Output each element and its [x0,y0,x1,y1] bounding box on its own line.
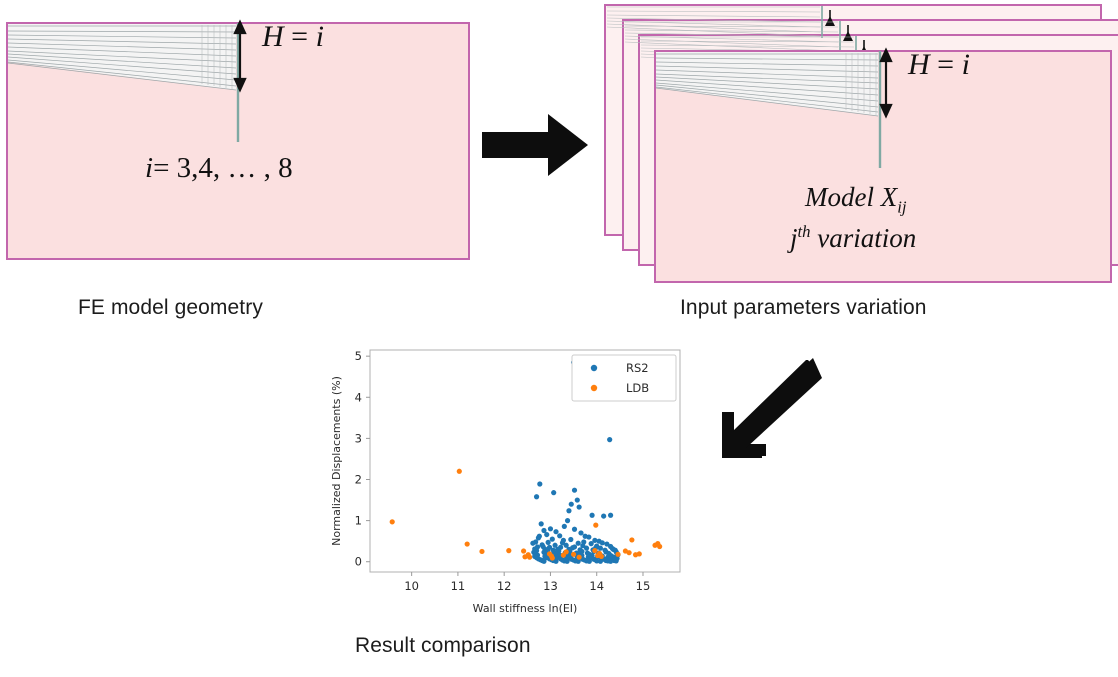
data-point-rs2 [608,559,613,564]
data-point-ldb [571,552,576,557]
x-tick-label: 13 [543,579,558,593]
data-point-ldb [521,548,526,553]
x-tick-label: 14 [589,579,604,593]
data-point-rs2 [551,548,556,553]
data-point-rs2 [598,559,603,564]
caption-fe-model-geometry: FE model geometry [78,296,263,320]
data-point-ldb [592,548,597,553]
data-point-rs2 [548,526,553,531]
data-point-rs2 [546,540,551,545]
data-point-rs2 [551,490,556,495]
data-point-rs2 [611,547,616,552]
data-point-rs2 [575,497,580,502]
height-label-step2: H = i [908,48,970,82]
data-point-ldb [506,548,511,553]
data-point-rs2 [586,534,591,539]
figure-canvas: H = i i= 3,4, … , 8 FE model geometry [0,0,1118,677]
data-point-rs2 [577,504,582,509]
variation-index-j: j [790,223,798,253]
legend-label-ldb: LDB [626,381,649,395]
data-point-rs2 [561,538,566,543]
legend-label-rs2: RS2 [626,361,649,375]
data-point-rs2 [598,546,603,551]
i-range-symbol: i [145,152,153,184]
i-range-label: i= 3,4, … , 8 [145,152,293,185]
data-point-rs2 [557,533,562,538]
arrow-right-icon [482,110,590,180]
x-tick-label: 11 [451,579,466,593]
data-point-ldb [479,549,484,554]
y-tick-label: 0 [355,555,362,569]
data-point-rs2 [537,534,542,539]
variation-index-th: th [798,222,811,241]
legend-marker-rs2 [591,365,597,371]
x-tick-label: 10 [404,579,419,593]
data-point-rs2 [537,481,542,486]
data-point-ldb [599,554,604,559]
chart-legend: RS2 LDB [572,355,676,401]
data-point-rs2 [601,513,606,518]
legend-marker-ldb [591,385,597,391]
height-label-H: H [262,20,284,53]
data-point-rs2 [614,558,619,563]
y-axis-title: Normalized Displacements (%) [330,376,343,546]
data-point-rs2 [568,537,573,542]
height-dimension-arrow [230,22,256,102]
data-point-ldb [629,537,634,542]
height-label-step1: H = i [262,20,324,54]
x-axis-title: Wall stiffness ln(EI) [473,602,578,615]
model-id-text: Model X [805,182,897,212]
result-scatter-chart: 101112131415 012345 RS2 LDB Wall stiffne… [326,342,698,624]
y-tick-label: 1 [355,514,362,528]
height-dimension-arrow-variation [876,50,902,130]
data-point-rs2 [565,559,570,564]
y-tick-label: 3 [355,431,362,445]
data-point-rs2 [553,529,558,534]
data-point-ldb [615,552,620,557]
i-range-equals: = [153,152,169,184]
data-point-ldb [465,541,470,546]
legend-box [572,355,676,401]
arrow-down-left-icon [700,352,824,462]
data-point-rs2 [576,541,581,546]
height-label-equals: = [291,20,308,53]
variation-index-word: variation [817,223,916,253]
data-point-ldb [457,469,462,474]
caption-result-comparison: Result comparison [355,634,531,658]
y-tick-label: 5 [355,349,362,363]
scatter-svg: 101112131415 012345 RS2 LDB Wall stiffne… [326,342,698,624]
height-label-H-2: H [908,48,930,81]
data-point-ldb [627,550,632,555]
height-label-i: i [316,20,324,53]
data-point-rs2 [572,488,577,493]
data-point-ldb [657,544,662,549]
data-point-rs2 [572,527,577,532]
x-axis-ticks: 101112131415 [404,572,650,593]
data-point-ldb [564,549,569,554]
data-point-rs2 [544,532,549,537]
y-tick-label: 2 [355,473,362,487]
data-point-ldb [527,555,532,560]
data-point-rs2 [589,513,594,518]
data-point-rs2 [540,544,545,549]
data-point-rs2 [587,559,592,564]
x-tick-label: 12 [497,579,512,593]
y-tick-label: 4 [355,390,362,404]
data-point-rs2 [539,521,544,526]
height-label-equals-2: = [937,48,954,81]
data-point-ldb [547,551,552,556]
data-point-rs2 [600,540,605,545]
model-id-subscript: ij [897,197,906,216]
variation-index-label: jth variation [790,222,916,254]
data-point-ldb [390,519,395,524]
data-point-rs2 [566,508,571,513]
data-point-rs2 [607,437,612,442]
data-point-rs2 [569,502,574,507]
x-tick-label: 15 [636,579,651,593]
caption-input-parameters-variation: Input parameters variation [680,296,927,320]
data-point-rs2 [550,537,555,542]
i-range-values: 3,4, … , 8 [177,152,293,184]
data-point-ldb [593,523,598,528]
data-point-ldb [577,555,582,560]
data-point-rs2 [530,541,535,546]
height-label-i-2: i [962,48,970,81]
data-point-rs2 [562,524,567,529]
data-point-rs2 [572,544,577,549]
data-point-rs2 [578,530,583,535]
data-point-rs2 [584,546,589,551]
data-point-rs2 [589,541,594,546]
data-point-rs2 [541,559,546,564]
data-point-rs2 [581,539,586,544]
data-point-rs2 [608,513,613,518]
data-point-ldb [637,551,642,556]
data-point-rs2 [565,518,570,523]
data-point-rs2 [534,494,539,499]
model-id-label: Model Xij [805,182,907,217]
y-axis-ticks: 012345 [355,349,370,569]
